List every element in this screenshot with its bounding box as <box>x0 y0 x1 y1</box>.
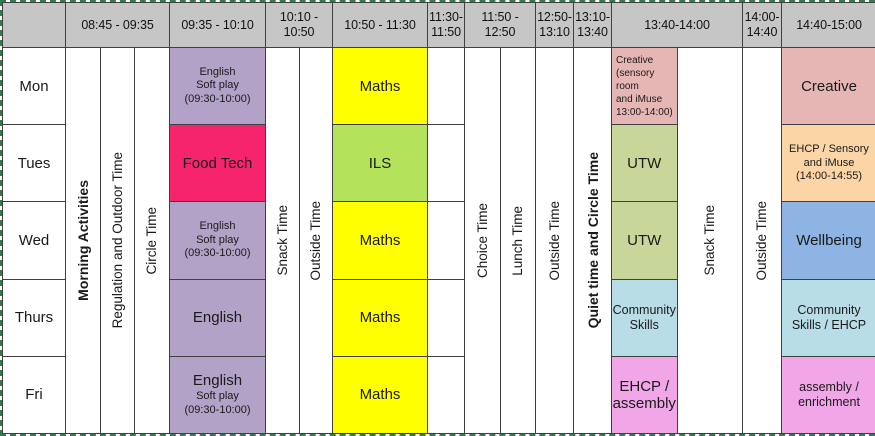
empty-slot-cell <box>428 125 465 202</box>
lesson-cell-english[interactable]: EnglishSoft play(09:30-10:00) <box>170 356 266 433</box>
activity-column-outside-time-mid: Outside Time <box>536 48 574 434</box>
time-slot-header: 13:10-13:40 <box>574 3 612 48</box>
lesson-cell-afternoon-late[interactable]: Wellbeing <box>782 202 875 279</box>
lesson-cell-afternoon-late[interactable]: CommunitySkills / EHCP <box>782 279 875 356</box>
lesson-text-line: Maths <box>333 232 427 249</box>
activity-column-label: Quiet time and Circle Time <box>586 152 600 328</box>
lesson-text-line: Creative <box>782 78 875 95</box>
lesson-cell-english[interactable]: EnglishSoft play(09:30-10:00) <box>170 202 266 279</box>
lesson-cell-afternoon-early[interactable]: EHCP /assembly <box>612 356 678 433</box>
lesson-text-line: Maths <box>333 386 427 403</box>
lesson-cell-afternoon-early[interactable]: UTW <box>612 202 678 279</box>
lesson-text-line: Creative <box>616 54 677 67</box>
lesson-text-line: (09:30-10:00) <box>170 404 265 418</box>
lesson-text-line: Maths <box>333 309 427 326</box>
activity-column-morning-activities: Morning Activities <box>66 48 101 434</box>
lesson-text-line: (09:30-10:00) <box>170 247 265 261</box>
lesson-text-line: Soft play <box>170 390 265 404</box>
lesson-cell-afternoon-late[interactable]: assembly /enrichment <box>782 356 875 433</box>
time-slot-header: 10:50 - 11:30 <box>333 3 428 48</box>
lesson-text-line: assembly / <box>782 380 875 395</box>
empty-slot-cell <box>428 48 465 125</box>
activity-column-label: Snack Time <box>703 205 717 276</box>
day-label-tues: Tues <box>3 125 66 202</box>
activity-column-outside-time-pm: Outside Time <box>743 48 782 434</box>
lesson-cell-afternoon-early[interactable]: UTW <box>612 125 678 202</box>
lesson-text-line: (14:00-14:55) <box>782 170 875 184</box>
lesson-text-line: (09:30-10:00) <box>170 93 265 107</box>
activity-column-snack-time-pm: Snack Time <box>677 48 743 434</box>
lesson-cell-afternoon-late[interactable]: EHCP / Sensoryand iMuse(14:00-14:55) <box>782 125 875 202</box>
time-slot-header: 12:50-13:10 <box>536 3 574 48</box>
activity-column-label: Regulation and Outdoor Time <box>111 152 125 328</box>
empty-slot-cell <box>428 356 465 433</box>
header-corner <box>3 3 66 48</box>
lesson-text-line: English <box>170 220 265 234</box>
lesson-cell-english[interactable]: EnglishSoft play(09:30-10:00) <box>170 48 266 125</box>
activity-column-label: Morning Activities <box>76 180 90 301</box>
lesson-text-line: Soft play <box>170 234 265 248</box>
lesson-text-line: and iMuse <box>782 157 875 171</box>
activity-column-circle-time: Circle Time <box>135 48 170 434</box>
time-slot-header: 13:40-14:00 <box>612 3 743 48</box>
activity-column-outside-time-am: Outside Time <box>299 48 333 434</box>
day-label-thurs: Thurs <box>3 279 66 356</box>
timetable: 08:45 - 09:3509:35 - 10:1010:10 - 10:501… <box>2 2 875 434</box>
lesson-text-line: Wellbeing <box>782 232 875 249</box>
activity-column-label: Outside Time <box>548 201 562 281</box>
lesson-text-line: enrichment <box>782 395 875 410</box>
time-slot-header: 11:50 - 12:50 <box>465 3 536 48</box>
lesson-text-line: English <box>170 372 265 390</box>
activity-column-lunch-time: Lunch Time <box>500 48 536 434</box>
lesson-cell-maths[interactable]: Maths <box>333 279 428 356</box>
activity-column-quiet-circle: Quiet time and Circle Time <box>574 48 612 434</box>
lesson-cell-english[interactable]: English <box>170 279 266 356</box>
activity-column-label: Choice Time <box>476 203 490 278</box>
timetable-row: MonMorning ActivitiesRegulation and Outd… <box>3 48 875 125</box>
lesson-text-line: English <box>170 309 265 326</box>
time-slot-header: 10:10 - 10:50 <box>266 3 333 48</box>
time-slot-header: 14:00-14:40 <box>743 3 782 48</box>
lesson-text-line: Community <box>612 303 677 318</box>
lesson-text-line: English <box>170 66 265 80</box>
lesson-text-line: 13:00-14:00) <box>616 106 677 119</box>
activity-column-label: Outside Time <box>755 201 769 281</box>
empty-slot-cell <box>428 279 465 356</box>
activity-column-label: Snack Time <box>276 205 290 276</box>
lesson-cell-maths[interactable]: Maths <box>333 202 428 279</box>
lesson-text-line: Food Tech <box>170 155 265 172</box>
activity-column-regulation-outdoor: Regulation and Outdoor Time <box>100 48 135 434</box>
lesson-cell-maths[interactable]: Maths <box>333 356 428 433</box>
lesson-text-line: Skills <box>612 318 677 333</box>
lesson-text-line: Skills / EHCP <box>782 318 875 333</box>
lesson-text-line: Maths <box>333 78 427 95</box>
lesson-text-line: assembly <box>612 395 677 412</box>
empty-slot-cell <box>428 202 465 279</box>
activity-column-label: Lunch Time <box>511 206 525 276</box>
day-label-fri: Fri <box>3 356 66 433</box>
time-slot-header: 08:45 - 09:35 <box>66 3 170 48</box>
time-slot-header: 11:30-11:50 <box>428 3 465 48</box>
lesson-cell-afternoon-early[interactable]: Creative(sensory roomand iMuse13:00-14:0… <box>612 48 678 125</box>
timetable-header-row: 08:45 - 09:3509:35 - 10:1010:10 - 10:501… <box>3 3 875 48</box>
lesson-text-line: Soft play <box>170 79 265 93</box>
activity-column-snack-time-am: Snack Time <box>266 48 300 434</box>
timetable-body: MonMorning ActivitiesRegulation and Outd… <box>3 48 875 434</box>
lesson-text-line: (sensory room <box>616 67 677 93</box>
activity-column-choice-time: Choice Time <box>465 48 501 434</box>
lesson-cell-maths[interactable]: ILS <box>333 125 428 202</box>
day-label-mon: Mon <box>3 48 66 125</box>
lesson-text-line: Community <box>782 303 875 318</box>
lesson-cell-afternoon-early[interactable]: CommunitySkills <box>612 279 678 356</box>
time-slot-header: 09:35 - 10:10 <box>170 3 266 48</box>
lesson-cell-english[interactable]: Food Tech <box>170 125 266 202</box>
lesson-cell-afternoon-late[interactable]: Creative <box>782 48 875 125</box>
lesson-cell-maths[interactable]: Maths <box>333 48 428 125</box>
lesson-text-line: EHCP / Sensory <box>782 143 875 157</box>
lesson-text-line: UTW <box>612 155 677 172</box>
lesson-text-line: and iMuse <box>616 93 677 106</box>
lesson-text-line: EHCP / <box>612 378 677 395</box>
timetable-sheet: 08:45 - 09:3509:35 - 10:1010:10 - 10:501… <box>0 0 875 436</box>
day-label-wed: Wed <box>3 202 66 279</box>
activity-column-label: Outside Time <box>309 201 323 281</box>
time-slot-header: 14:40-15:00 <box>782 3 875 48</box>
lesson-text-line: UTW <box>612 232 677 249</box>
activity-column-label: Circle Time <box>145 207 159 275</box>
lesson-text-line: ILS <box>333 155 427 172</box>
